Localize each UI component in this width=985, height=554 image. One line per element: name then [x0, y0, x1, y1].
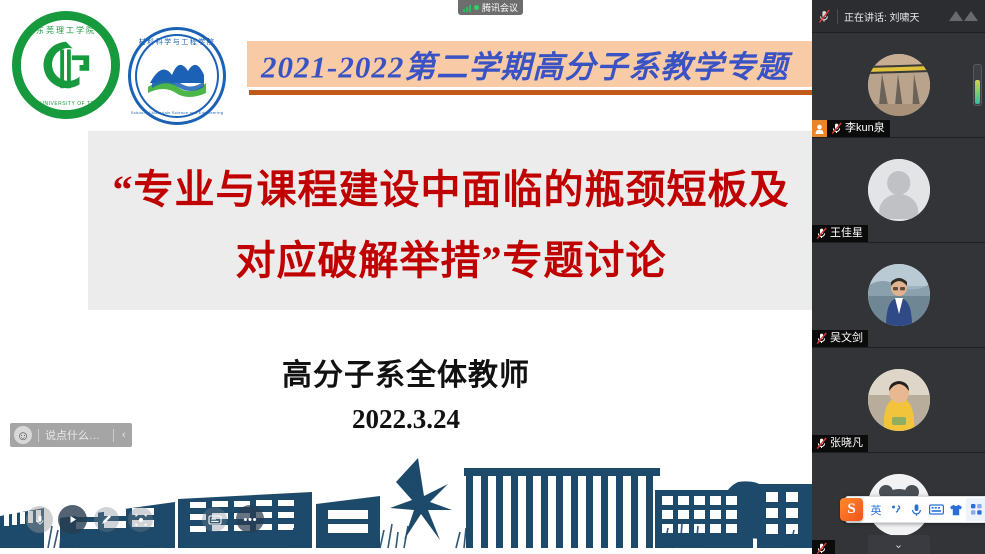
- dgut-logo-mark: [37, 36, 95, 94]
- meeting-watermark-icon: [947, 9, 981, 22]
- participant-name: 王佳星: [830, 228, 863, 239]
- speaking-status-bar: 正在讲话: 刘啸天: [812, 0, 985, 33]
- play-control[interactable]: [58, 505, 87, 534]
- avatar: [868, 54, 930, 116]
- slide-banner-text: 2021-2022第二学期高分子系教学专题: [261, 42, 788, 87]
- dgut-logo-cn-text: 东莞理工学院: [36, 25, 96, 36]
- divider: [38, 429, 39, 442]
- participant-tile[interactable]: 张晓凡: [812, 348, 985, 453]
- more-control[interactable]: [236, 505, 264, 533]
- mic-off-icon: [818, 9, 831, 24]
- mic-off-icon: [831, 122, 843, 135]
- grid-glyph: [970, 503, 983, 516]
- smiley-icon[interactable]: ☺: [14, 426, 32, 444]
- tencent-meeting-indicator[interactable]: 腾讯会议: [458, 0, 523, 15]
- mic-off-icon: [816, 332, 828, 345]
- participant-name-bar: [812, 540, 835, 554]
- slide-title-line-1: “专业与课程建设中面临的瓶颈短板及: [88, 157, 812, 215]
- pen-icon: [100, 513, 113, 526]
- microphone-glyph: [910, 503, 923, 517]
- avatar: [868, 159, 930, 221]
- mic-off-icon: [816, 542, 828, 554]
- participant-name-bar: 王佳星: [812, 225, 868, 242]
- divider: [113, 429, 114, 442]
- participant-tile[interactable]: 李kun泉: [812, 33, 985, 138]
- target-icon: [134, 513, 148, 527]
- skin-icon[interactable]: [946, 498, 966, 521]
- participant-panel: 正在讲话: 刘啸天: [812, 0, 985, 554]
- msen-logo-en-text: School of Materials Science and Engineer…: [131, 110, 224, 115]
- host-badge-icon: [812, 120, 827, 137]
- ellipsis-icon: [243, 517, 257, 522]
- laser-pointer-control[interactable]: [128, 507, 153, 532]
- toolbox-icon[interactable]: [966, 498, 985, 521]
- signal-bars-icon: [463, 4, 471, 12]
- participant-name-bar: 李kun泉: [812, 120, 890, 137]
- speaking-label: 正在讲话: 刘啸天: [844, 9, 920, 24]
- chat-input-placeholder[interactable]: 说点什么…: [45, 427, 107, 443]
- slide-subtitle: 高分子系全体教师: [0, 350, 812, 394]
- volume-meter: [973, 64, 982, 106]
- chevron-left-icon[interactable]: ‹: [120, 429, 128, 441]
- status-dot-icon: [474, 5, 479, 10]
- campus-silhouette-illustration: [0, 444, 812, 554]
- divider: [837, 9, 838, 24]
- msen-logo-mark: [146, 53, 208, 97]
- meeting-app-label: 腾讯会议: [482, 1, 518, 14]
- microphone-icon: [34, 514, 46, 526]
- input-mode-english-icon[interactable]: 英: [866, 498, 886, 521]
- sogou-logo-icon[interactable]: S: [840, 498, 863, 521]
- avatar: [868, 264, 930, 326]
- dgut-logo-en-text: DONGGUAN UNIVERSITY OF TECHNOLOGY: [21, 101, 111, 107]
- slide-banner-rule: [249, 90, 812, 95]
- participant-name: 吴文剑: [830, 333, 863, 344]
- voice-input-icon[interactable]: [906, 498, 926, 521]
- microphone-control[interactable]: [26, 506, 53, 533]
- participant-name: 李kun泉: [845, 123, 885, 134]
- chevron-down-icon[interactable]: ⌄: [868, 535, 930, 554]
- meeting-screen: 东莞理工学院 DONGGUAN UNIVERSITY OF TECHNOLOGY…: [0, 0, 985, 554]
- mic-off-icon: [816, 437, 828, 450]
- chat-input-bar[interactable]: ☺ 说点什么… ‹: [10, 423, 132, 447]
- avatar: [868, 369, 930, 431]
- play-icon: [66, 513, 79, 526]
- subtitle-control[interactable]: [202, 507, 227, 532]
- participant-name-bar: 吴文剑: [812, 330, 868, 347]
- slide-title-card: “专业与课程建设中面临的瓶颈短板及 对应破解举措”专题讨论: [88, 131, 812, 310]
- slide-title-line-2: 对应破解举措”专题讨论: [88, 228, 812, 286]
- shared-presentation-slide: 东莞理工学院 DONGGUAN UNIVERSITY OF TECHNOLOGY…: [0, 0, 812, 554]
- annotate-control[interactable]: [94, 507, 119, 532]
- dongguan-university-of-technology-logo: 东莞理工学院 DONGGUAN UNIVERSITY OF TECHNOLOGY: [12, 11, 120, 119]
- shirt-glyph: [949, 504, 963, 516]
- sogou-ime-toolbar[interactable]: S 英: [845, 496, 985, 523]
- keyboard-glyph: [929, 504, 944, 515]
- subtitle-icon: [208, 514, 222, 526]
- participant-name: 张晓凡: [830, 438, 863, 449]
- participant-tile[interactable]: 吴文剑: [812, 243, 985, 348]
- punctuation-toggle-icon[interactable]: [886, 498, 906, 521]
- school-of-materials-science-and-engineering-logo: 材料科学与工程学院 School of Materials Science an…: [128, 27, 226, 125]
- msen-logo-cn-text: 材料科学与工程学院: [139, 37, 216, 47]
- slide-banner: 2021-2022第二学期高分子系教学专题: [247, 41, 812, 87]
- participant-name-bar: 张晓凡: [812, 435, 868, 452]
- participant-tile[interactable]: 王佳星: [812, 138, 985, 243]
- punctuation-glyph: [890, 503, 903, 516]
- soft-keyboard-icon[interactable]: [926, 498, 946, 521]
- mic-off-icon: [816, 227, 828, 240]
